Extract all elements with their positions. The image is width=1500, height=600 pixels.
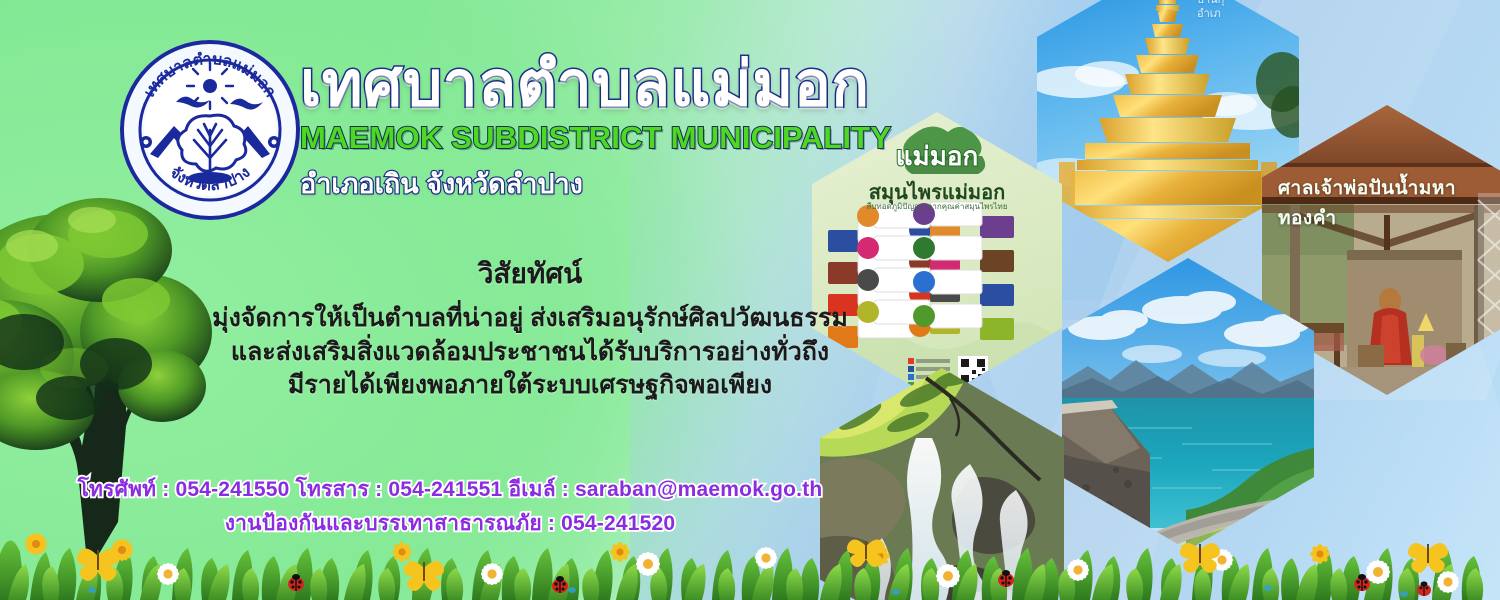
hexagon-golden-pagoda-photo[interactable]: วัดพร บ้านกุ่ อำเภ (1037, 0, 1299, 262)
contact-line-phone-fax-email[interactable]: โทรศัพท์ : 054-241550 โทรสาร : 054-24155… (60, 473, 840, 507)
org-name-english: MAEMOK SUBDISTRICT MUNICIPALITY (300, 120, 960, 156)
municipality-banner: วัดพร บ้านกุ่ อำเภ (0, 0, 1500, 600)
vision-line-3: มีรายได้เพียงพอภายใต้ระบบเศรษฐกิจพอเพียง (210, 369, 850, 403)
municipality-seal-logo: เทศบาลตำบลแม่มอก จังหวัดลำปาง (118, 38, 302, 222)
vision-block: วิสัยทัศน์ มุ่งจัดการให้เป็นตำบลที่น่าอย… (210, 252, 850, 403)
shrine-overlay-text: ศาลเจ้าพ่อปันน้ำมหาทองคำ (1278, 173, 1500, 233)
pagoda-overlay-subtext: บ้านกุ่ อำเภ (1197, 0, 1224, 22)
vision-line-1: มุ่งจัดการให้เป็นตำบลที่น่าอยู่ ส่งเสริม… (210, 302, 850, 336)
title-block: เทศบาลตำบลแม่มอก MAEMOK SUBDISTRICT MUNI… (300, 52, 960, 205)
vision-heading: วิสัยทัศน์ (210, 252, 850, 296)
yellow-daisy-flowers (24, 532, 1330, 566)
org-name-thai: เทศบาลตำบลแม่มอก (300, 52, 960, 118)
org-location: อำเภอเถิน จังหวัดลำปาง (300, 162, 960, 205)
vision-line-2: และส่งเสริมสิ่งแวดล้อมประชาชนได้รับบริกา… (210, 336, 850, 370)
grass-decoration-strip (0, 508, 1500, 600)
